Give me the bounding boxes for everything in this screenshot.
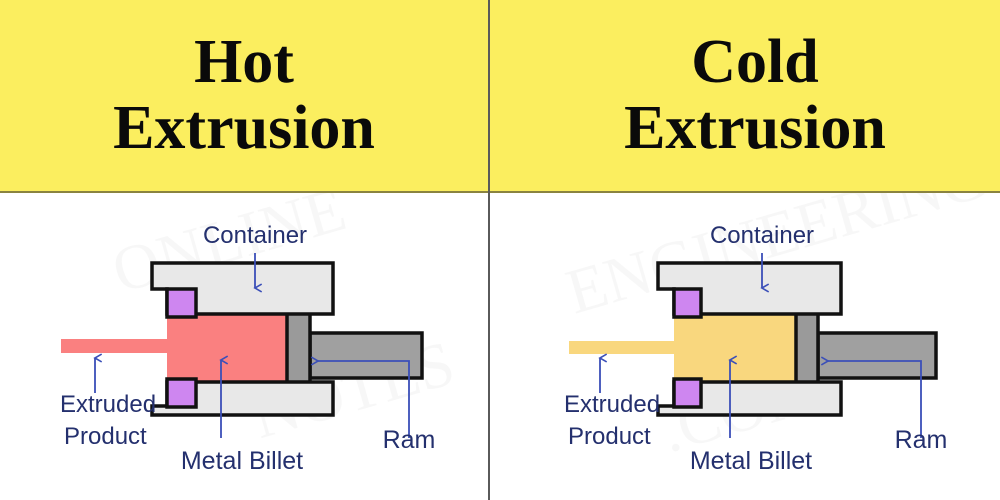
label-extruded-product-line1: Extruded (60, 391, 156, 418)
metal-billet-rect (674, 314, 796, 382)
metal-billet-shape (167, 314, 287, 382)
label-metal-billet: Metal Billet (181, 447, 303, 475)
metal-billet-rect (167, 314, 287, 382)
ram-shape (310, 333, 422, 378)
dummy-block-shape (796, 312, 818, 384)
hot-extrusion-panel: Container Extruded Product Metal Billet … (0, 193, 488, 500)
ram-shape (818, 333, 936, 378)
metal-billet-shape (674, 314, 796, 382)
cold-title-cell: Cold Extrusion (510, 0, 1000, 191)
extruded-product-bar (569, 341, 675, 354)
die-upper (674, 289, 701, 317)
extruded-product-shape (569, 341, 675, 354)
label-ram: Ram (895, 426, 948, 454)
hot-title-cell: Hot Extrusion (0, 0, 488, 191)
die-upper (167, 289, 196, 317)
extrusion-comparison-figure: Hot Extrusion Cold Extrusion ONLINE ENGI… (0, 0, 1000, 500)
die-lower (674, 379, 701, 407)
label-container: Container (710, 222, 814, 249)
label-ram: Ram (383, 426, 436, 454)
label-container: Container (203, 222, 307, 249)
label-extruded-product-line1: Extruded (564, 391, 660, 418)
title-banner: Hot Extrusion Cold Extrusion (0, 0, 1000, 193)
label-metal-billet: Metal Billet (690, 447, 812, 475)
hot-extrusion-title: Hot Extrusion (113, 30, 375, 160)
label-extruded-product-line2: Product (64, 423, 147, 450)
cold-extrusion-panel: Container Extruded Product Metal Billet … (490, 193, 1000, 500)
dummy-block-shape (287, 312, 310, 384)
cold-extrusion-title: Cold Extrusion (624, 30, 886, 160)
die-lower (167, 379, 196, 407)
extruded-product-shape (61, 339, 168, 353)
label-extruded-product-line2: Product (568, 423, 651, 450)
extruded-product-bar (61, 339, 168, 353)
